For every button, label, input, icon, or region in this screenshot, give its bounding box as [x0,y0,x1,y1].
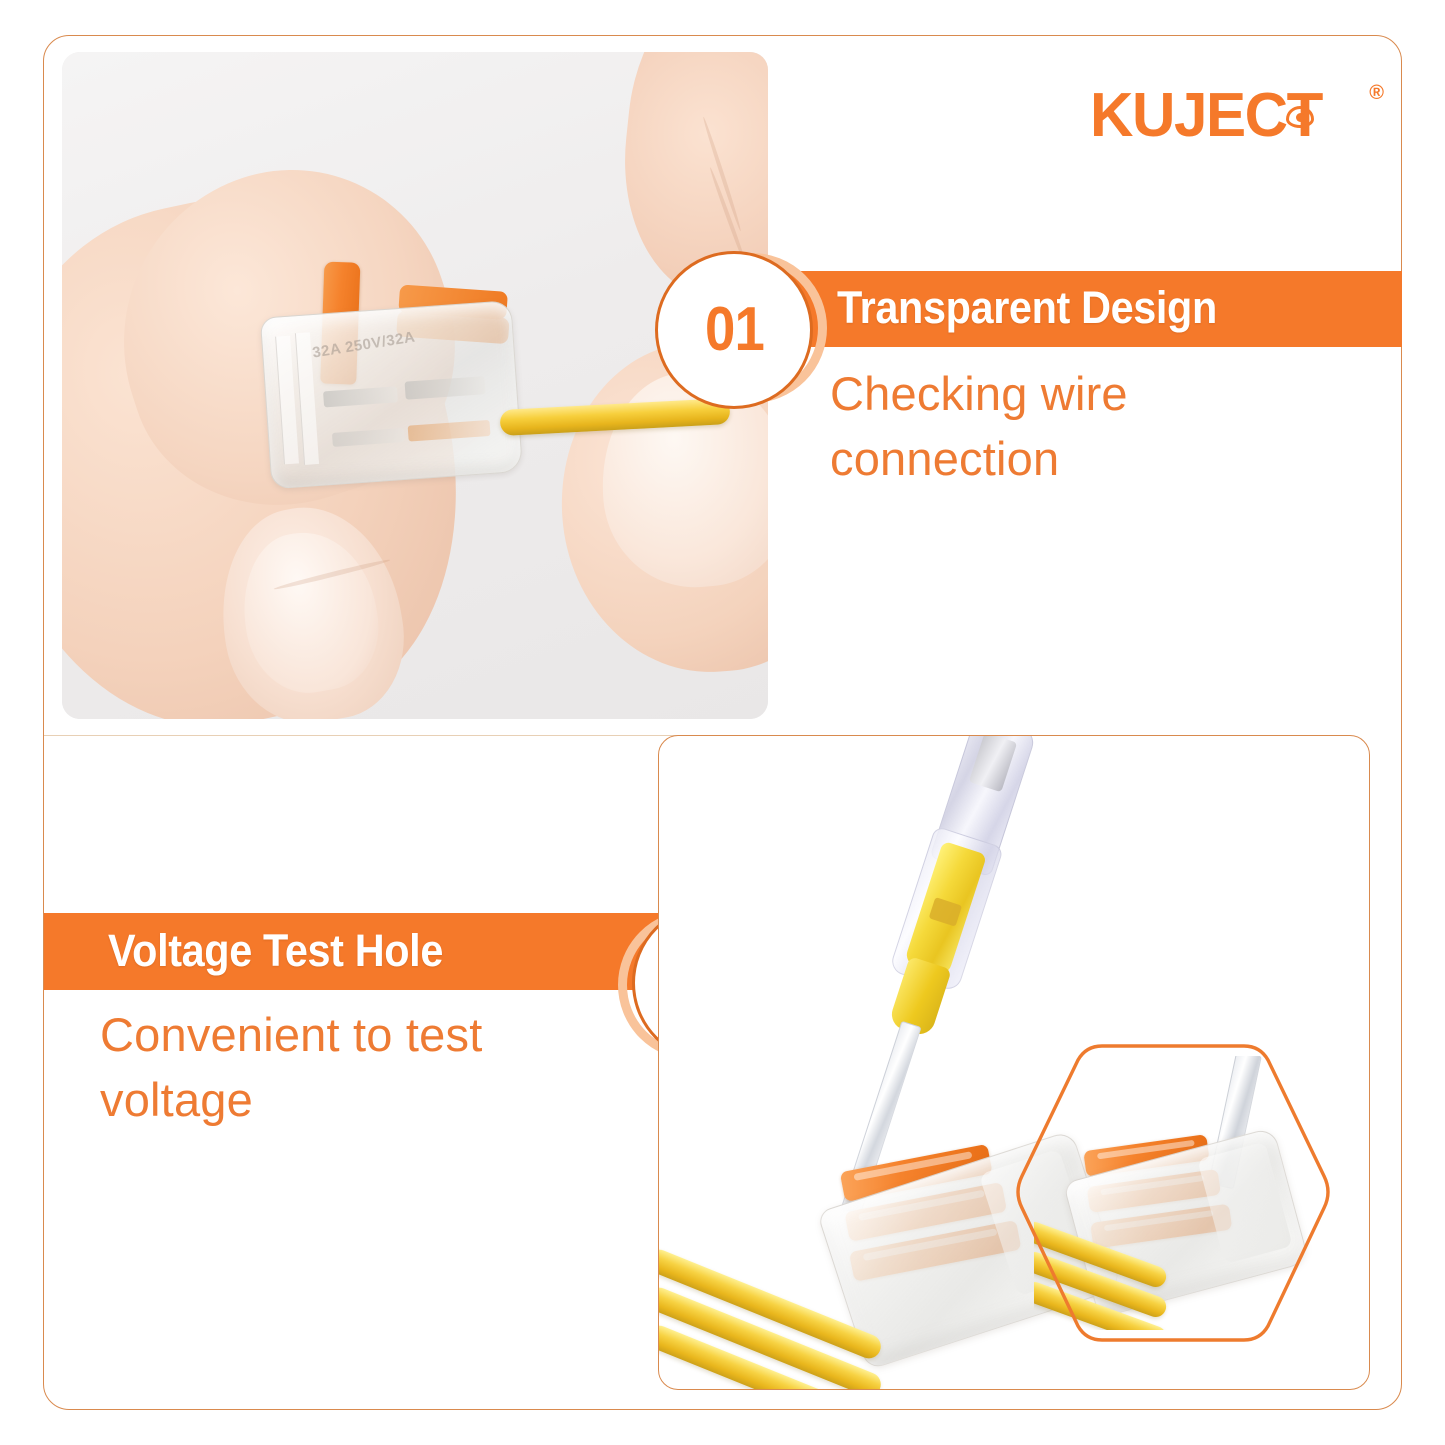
hexagon-outline-icon [1004,1028,1342,1358]
photo-voltage-test-hole [658,735,1370,1390]
section-02-title: Voltage Test Hole [108,924,443,976]
registered-trademark-symbol: ® [1369,82,1384,105]
brand-logo: KUJECT ® [1090,78,1380,154]
section-01-number-badge: 01 [655,243,831,419]
section-01-title-bar: Transparent Design [765,271,1402,347]
section-02-title-bar: Voltage Test Hole [44,913,658,990]
badge-circle: 01 [655,251,813,409]
section-01-body-line2: connection [830,427,1370,492]
section-01-body-line1: Checking wire [830,362,1370,427]
section-02-body-line1: Convenient to test [100,1003,640,1068]
voltage-tester-screwdriver [869,735,1049,1022]
section-01-title: Transparent Design [837,282,1217,334]
wire-connector-product: 32A 250V/32A [247,258,526,491]
section-divider [44,735,768,736]
eye-pupil-icon [1296,113,1305,122]
section-01-number: 01 [705,299,764,361]
section-02-body: Convenient to test voltage [100,1003,640,1133]
section-02-body-line2: voltage [100,1068,640,1133]
infographic-page: KUJECT ® 32A 250V/32A [0,0,1445,1445]
section-01-body: Checking wire connection [830,362,1370,492]
zoom-inset-hexagon [1004,1028,1342,1358]
